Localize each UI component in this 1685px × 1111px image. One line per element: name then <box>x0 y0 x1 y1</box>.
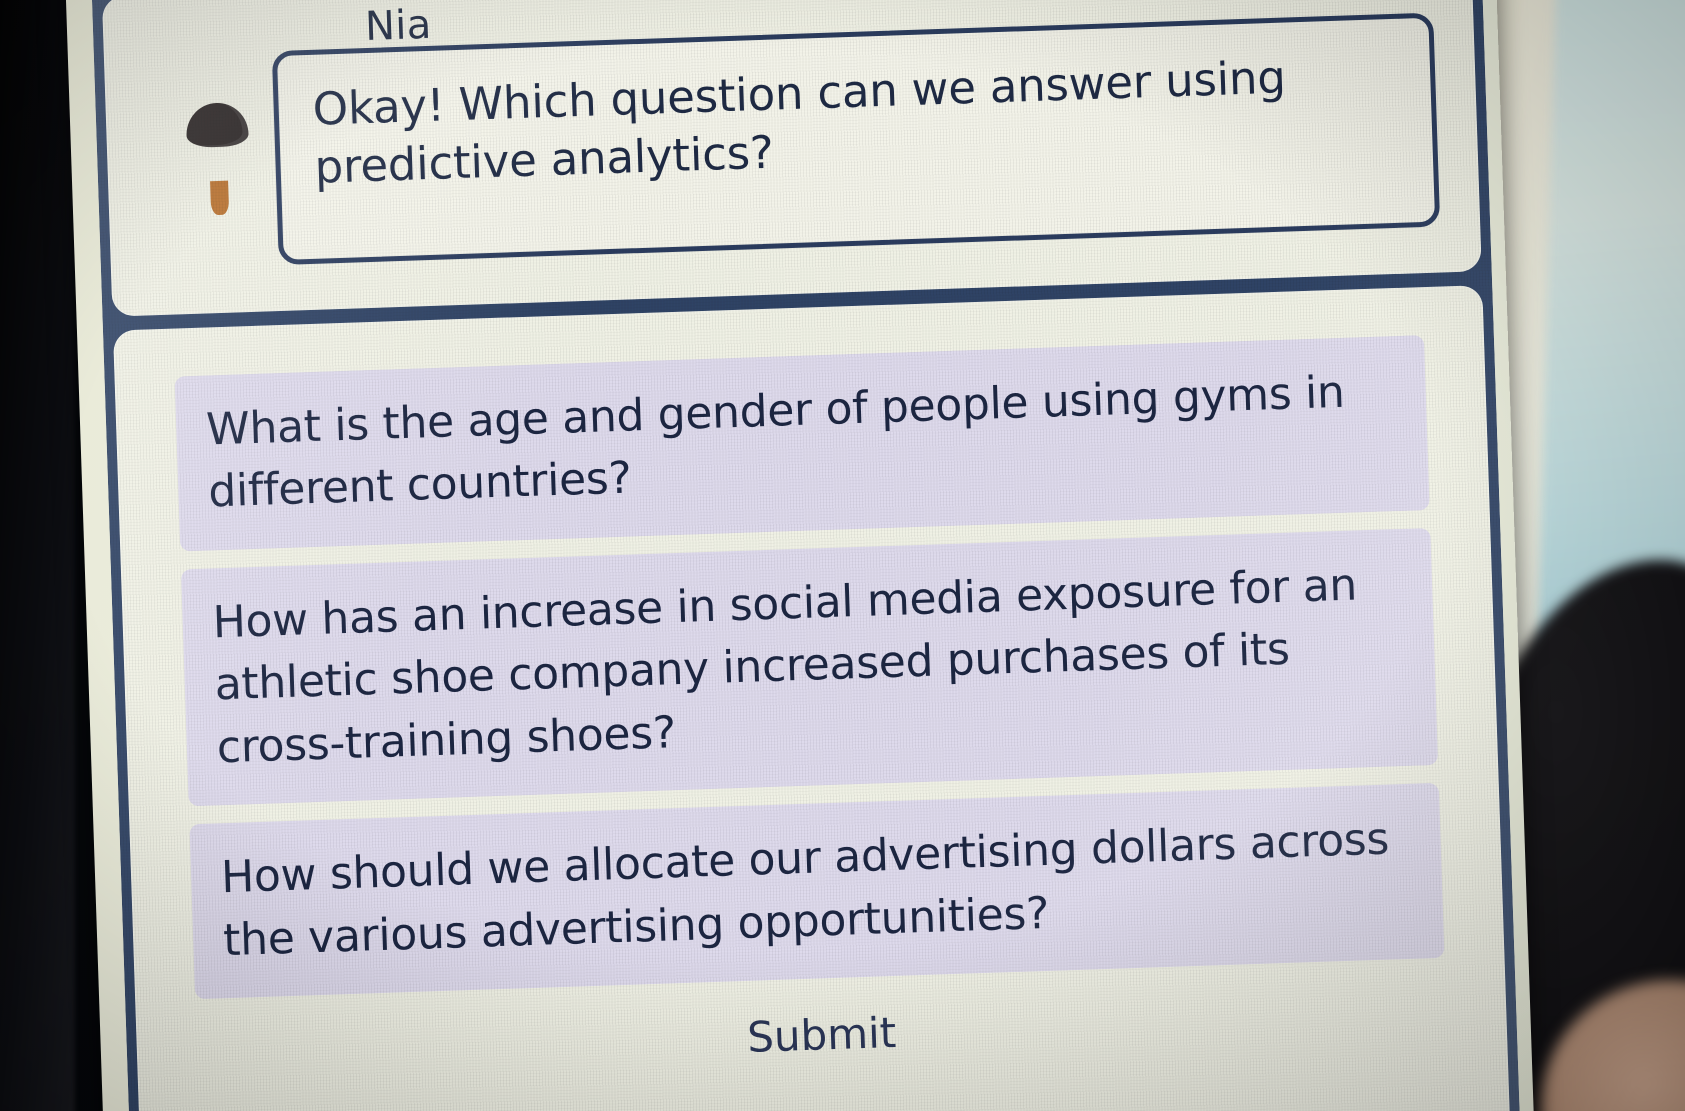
screen-surface: Nia Okay! Which question can we answer u… <box>88 0 1523 1111</box>
speaker-name-label: Nia <box>364 2 432 50</box>
dialogue-message-text: Okay! Which question can we answer using… <box>312 45 1399 196</box>
avatar-hair <box>185 102 248 148</box>
answer-option-3-text: How should we allocate our advertising d… <box>220 808 1413 972</box>
avatar-neck <box>210 181 229 216</box>
answer-option-1-text: What is the age and gender of people usi… <box>205 360 1398 524</box>
background-dark-left-edge <box>0 0 75 1111</box>
answer-options-panel: What is the age and gender of people usi… <box>113 285 1514 1111</box>
submit-row: Submit <box>196 982 1447 1088</box>
photograph-scene: Nia Okay! Which question can we answer u… <box>0 0 1685 1111</box>
answer-option-2-text: How has an increase in social media expo… <box>212 553 1408 780</box>
submit-button[interactable]: Submit <box>706 999 937 1072</box>
monitor: Nia Okay! Which question can we answer u… <box>62 0 1537 1111</box>
answer-option-3[interactable]: How should we allocate our advertising d… <box>189 783 1444 999</box>
answer-option-1[interactable]: What is the age and gender of people usi… <box>175 335 1430 551</box>
nia-avatar <box>185 102 251 224</box>
dialogue-panel: Nia Okay! Which question can we answer u… <box>102 0 1482 317</box>
dialogue-speech-bubble: Okay! Which question can we answer using… <box>272 13 1440 265</box>
app-frame: Nia Okay! Which question can we answer u… <box>88 0 1523 1111</box>
answer-option-2[interactable]: How has an increase in social media expo… <box>181 528 1438 807</box>
